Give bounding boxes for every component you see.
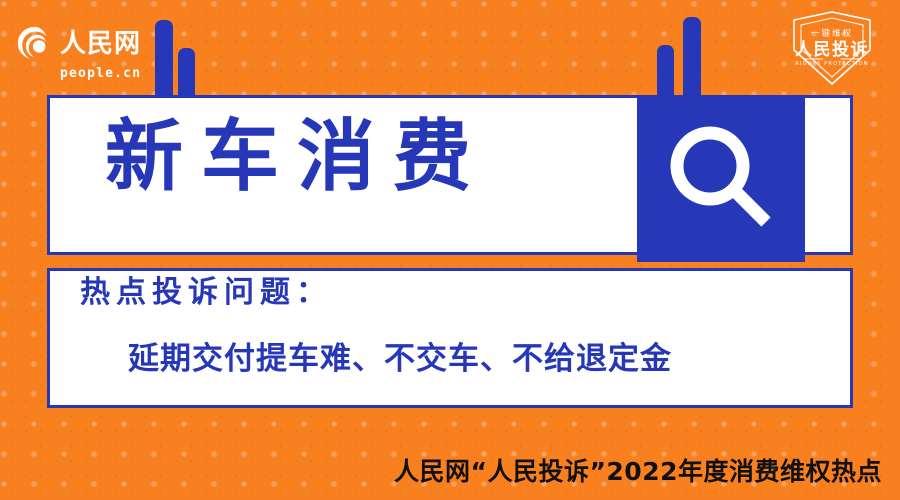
- logo-domain: people.cn: [60, 66, 144, 81]
- badge-main-line: 人民投诉: [795, 39, 869, 60]
- logo-wordmark: 人民网: [60, 31, 141, 57]
- page-title: 新车消费: [105, 118, 489, 196]
- badge-top-line: 一键维权: [811, 28, 853, 39]
- magnifier-icon: [665, 121, 777, 233]
- infographic-poster: 人民网 people.cn 一键维权 人民投诉 RIGHTS PROTECTIO…: [0, 0, 900, 500]
- search-block: [637, 95, 805, 262]
- rights-protection-badge: 一键维权 人民投诉 RIGHTS PROTECTION: [778, 6, 886, 90]
- logo-row: 人民网: [16, 25, 144, 63]
- people-cn-swirl-icon: [16, 25, 54, 63]
- footer-caption: 人民网“人民投诉”2022年度消费维权热点: [394, 459, 882, 484]
- decor-bar-tall-left: [155, 20, 173, 102]
- badge-bottom-line: RIGHTS PROTECTION: [795, 61, 868, 67]
- hot-issue-detail: 延期交付提车难、不交车、不给退定金: [128, 344, 672, 375]
- decor-bar-short-left: [178, 48, 195, 102]
- decor-bar-short-right: [657, 45, 674, 102]
- decor-bar-tall-right: [683, 17, 701, 102]
- hot-issue-label: 热点投诉问题：: [80, 278, 332, 308]
- people-cn-logo: 人民网 people.cn: [16, 24, 144, 82]
